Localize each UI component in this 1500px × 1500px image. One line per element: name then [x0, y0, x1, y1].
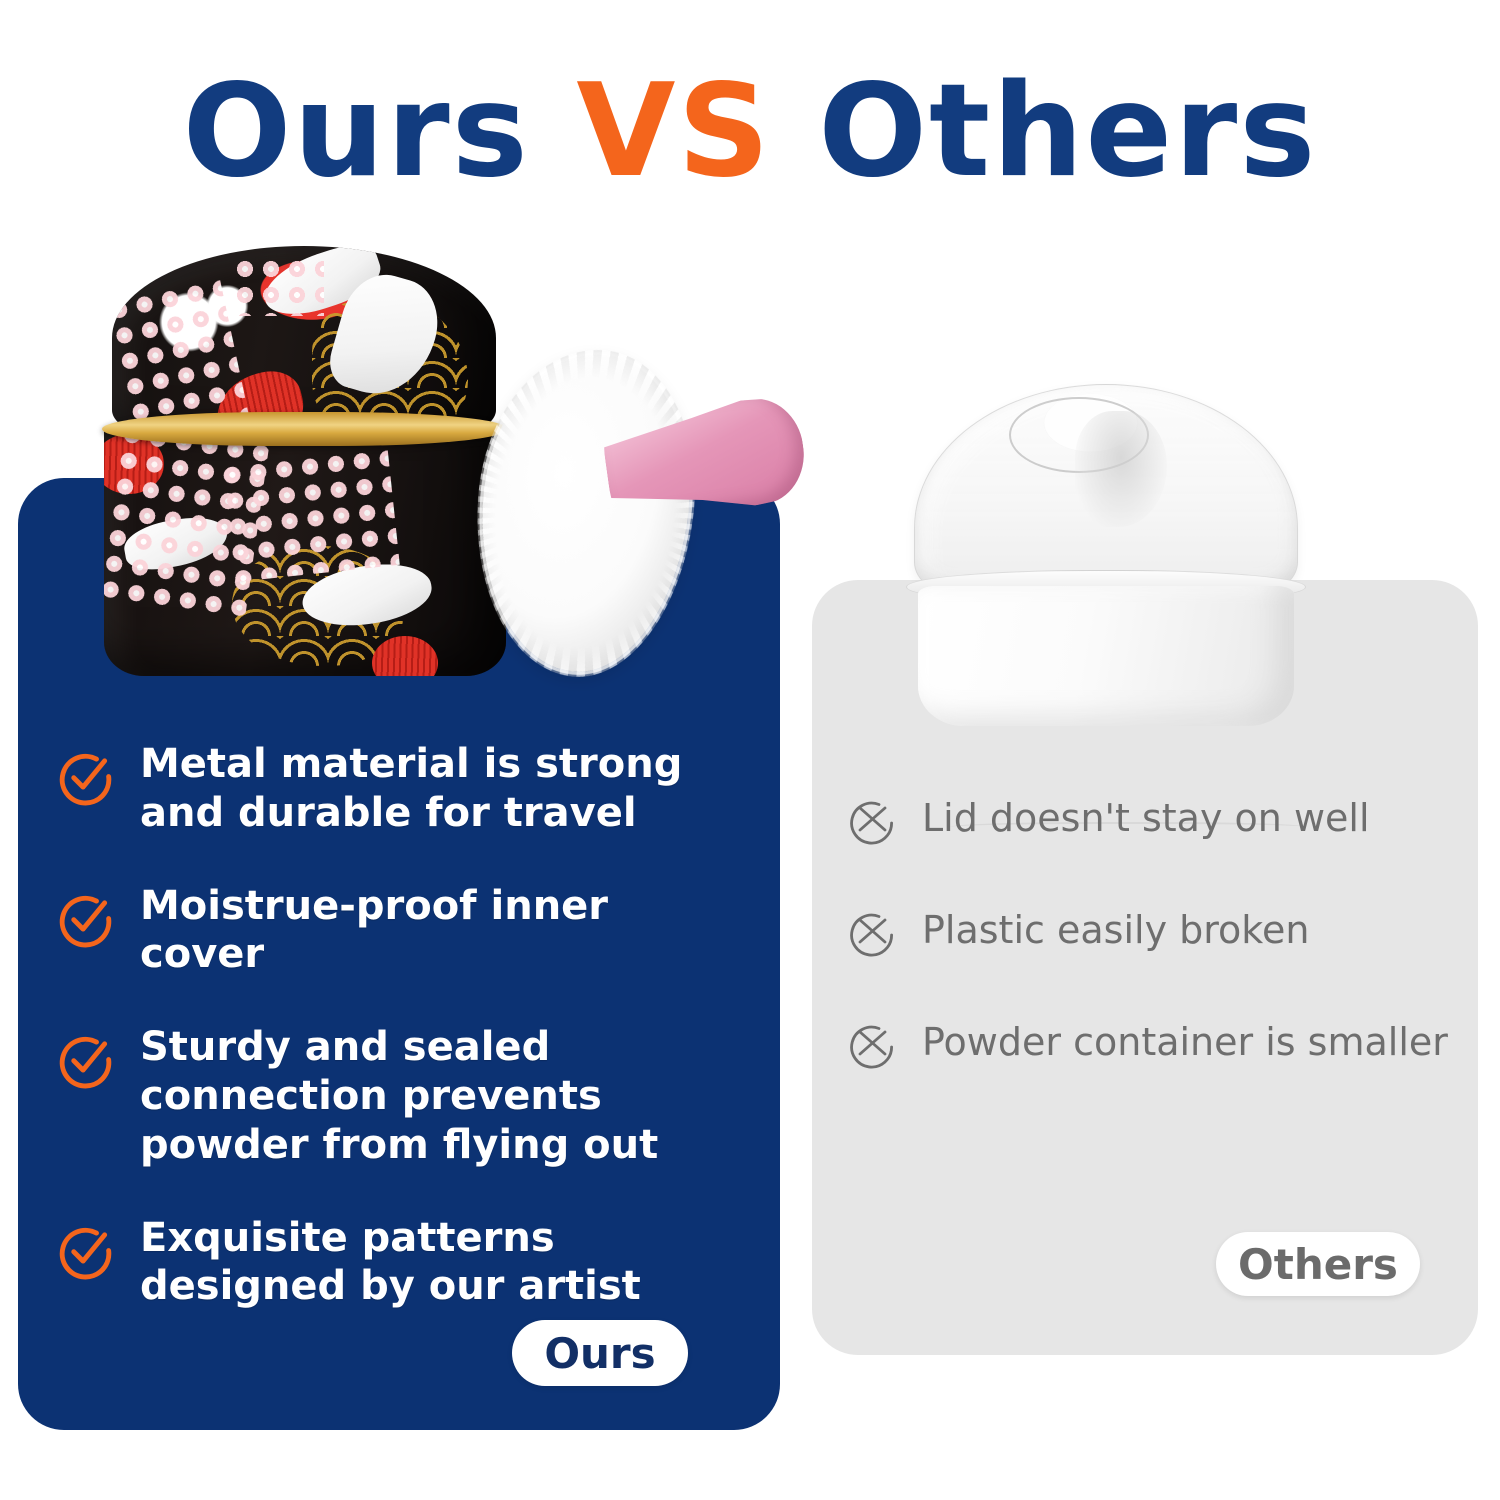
- x-circle-icon: [848, 797, 896, 845]
- gold-band: [102, 412, 508, 446]
- title-word-others: Others: [818, 57, 1317, 206]
- page-title: Ours VS Others: [0, 62, 1500, 203]
- clear-dome-lid: [914, 384, 1298, 596]
- list-item: Plastic easily broken: [848, 907, 1468, 957]
- puff-visible-through-lid: [1075, 411, 1167, 527]
- list-item: Metal material is strong and durable for…: [58, 740, 758, 838]
- x-circle-icon: [848, 1021, 896, 1069]
- list-item-label: Lid doesn't stay on well: [922, 795, 1370, 841]
- cherry-blossom-pattern: [218, 445, 400, 582]
- ours-badge: Ours: [512, 1320, 688, 1386]
- list-item-label: Metal material is strong and durable for…: [140, 740, 740, 838]
- ours-feature-list: Metal material is strong and durable for…: [58, 740, 758, 1311]
- list-item: Exquisite patterns designed by our artis…: [58, 1214, 758, 1312]
- others-product-image: [896, 384, 1316, 724]
- others-badge: Others: [1216, 1232, 1420, 1296]
- check-circle-icon: [58, 890, 114, 946]
- check-circle-icon: [58, 1222, 114, 1278]
- list-item: Lid doesn't stay on well: [848, 795, 1468, 845]
- others-drawback-list: Lid doesn't stay on well Plastic easily …: [848, 795, 1468, 1069]
- list-item: Sturdy and sealed connection prevents po…: [58, 1023, 758, 1169]
- jar-base: [918, 586, 1294, 726]
- check-circle-icon: [58, 748, 114, 804]
- list-item: Powder container is smaller: [848, 1019, 1468, 1069]
- title-word-vs: VS: [576, 57, 771, 206]
- list-item-label: Moistrue-proof inner cover: [140, 882, 740, 980]
- list-item: Moistrue-proof inner cover: [58, 882, 758, 980]
- ours-product-image: [96, 236, 736, 686]
- list-item-label: Sturdy and sealed connection prevents po…: [140, 1023, 740, 1169]
- title-word-ours: Ours: [183, 57, 530, 206]
- x-circle-icon: [848, 909, 896, 957]
- check-circle-icon: [58, 1031, 114, 1087]
- list-item-label: Exquisite patterns designed by our artis…: [140, 1214, 740, 1312]
- list-item-label: Powder container is smaller: [922, 1019, 1448, 1065]
- red-motif: [372, 636, 438, 676]
- cherry-blossom-pattern: [232, 256, 324, 316]
- tin-body: [104, 424, 506, 676]
- list-item-label: Plastic easily broken: [922, 907, 1309, 953]
